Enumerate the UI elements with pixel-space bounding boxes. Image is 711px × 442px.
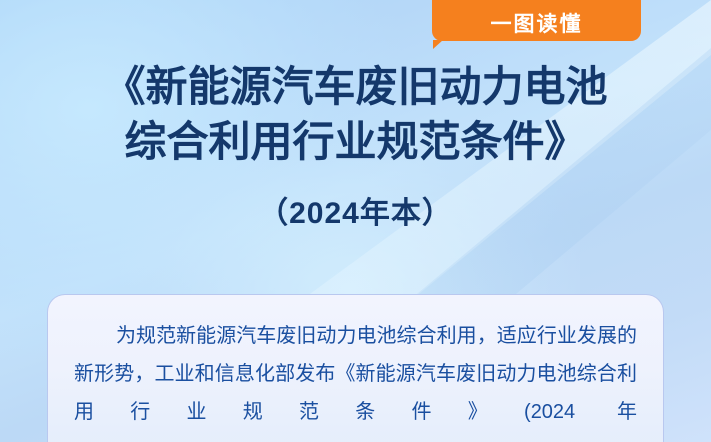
read-in-one-picture-badge: 一图读懂 — [432, 0, 641, 41]
page-subtitle: （2024年本） — [0, 196, 711, 232]
page-title-line-2: 综合利用行业规范条件》 — [0, 115, 711, 170]
infographic-poster: 一图读懂 《新能源汽车废旧动力电池 综合利用行业规范条件》 （2024年本） 为… — [0, 0, 711, 442]
page-title: 《新能源汽车废旧动力电池 综合利用行业规范条件》 — [0, 60, 711, 169]
badge-label: 一图读懂 — [491, 14, 583, 35]
intro-card: 为规范新能源汽车废旧动力电池综合利用，适应行业发展的新形势，工业和信息化部发布《… — [47, 294, 664, 442]
intro-paragraph: 为规范新能源汽车废旧动力电池综合利用，适应行业发展的新形势，工业和信息化部发布《… — [74, 317, 637, 431]
page-title-line-1: 《新能源汽车废旧动力电池 — [0, 60, 711, 115]
badge-tail-icon — [433, 40, 443, 49]
